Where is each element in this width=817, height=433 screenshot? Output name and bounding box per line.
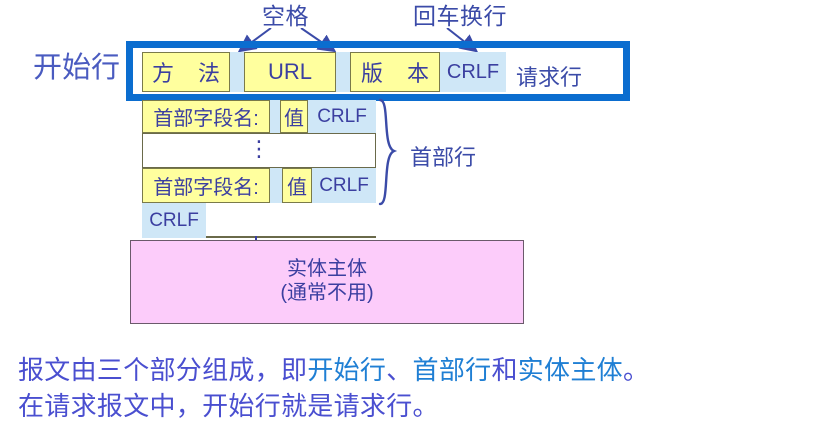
label-request-line: 请求行 [516,60,582,92]
caption-line-2: 在请求报文中，开始行就是请求行。 [18,388,649,424]
caption-line-1: 报文由三个部分组成，即开始行、首部行和实体主体。 [18,352,649,388]
row-ellipsis: ⋮ [142,133,376,168]
entity-body-line-2: (通常不用) [280,282,373,306]
caption-l1-p4: 。 [623,355,649,385]
row-divider [206,236,376,238]
cell-header1-field-name[interactable]: 首部字段名: [142,100,270,133]
cell-crlf-request-line[interactable]: CRLF [440,52,506,92]
caption-l1-p1: 报文由三个部分组成，即 [18,355,307,385]
diagram-canvas: 空格 回车换行 开始行 方 法 URL 版 本 CRLF 请求行 首部字段名: … [0,0,817,433]
header-lines-brace [378,98,412,208]
cell-header1-value[interactable]: 值 [280,100,308,133]
cell-header1-space[interactable] [270,100,280,133]
cell-header2-space[interactable] [270,168,282,203]
cell-header1-crlf[interactable]: CRLF [308,100,376,133]
cell-header2-crlf[interactable]: CRLF [312,168,376,203]
entity-body-box[interactable]: 实体主体 (通常不用) [130,240,524,324]
cell-space-2[interactable] [336,52,350,92]
cell-version[interactable]: 版 本 [350,52,440,92]
callout-label-space: 空格 [262,3,309,29]
label-header-lines: 首部行 [410,140,476,172]
caption-l1-hi1: 开始行 [307,355,386,385]
caption-l1-hi3: 实体主体 [518,355,623,385]
caption-l1-p3: 和 [491,355,517,385]
cell-space-1[interactable] [230,52,244,92]
callout-label-crlf: 回车换行 [413,3,507,29]
entity-body-line-1: 实体主体 [287,258,367,282]
cell-header2-value[interactable]: 值 [282,168,312,203]
cell-blank-line-crlf[interactable]: CRLF [142,203,206,238]
caption-l1-p2: 、 [386,355,412,385]
ellipsis-glyph: ⋮ [248,136,270,162]
caption-block: 报文由三个部分组成，即开始行、首部行和实体主体。 在请求报文中，开始行就是请求行… [18,352,649,424]
cell-method[interactable]: 方 法 [142,52,230,92]
side-label-start-line: 开始行 [33,52,120,84]
caption-l1-hi2: 首部行 [413,355,492,385]
cell-header2-field-name[interactable]: 首部字段名: [142,168,270,203]
cell-url[interactable]: URL [244,52,336,92]
